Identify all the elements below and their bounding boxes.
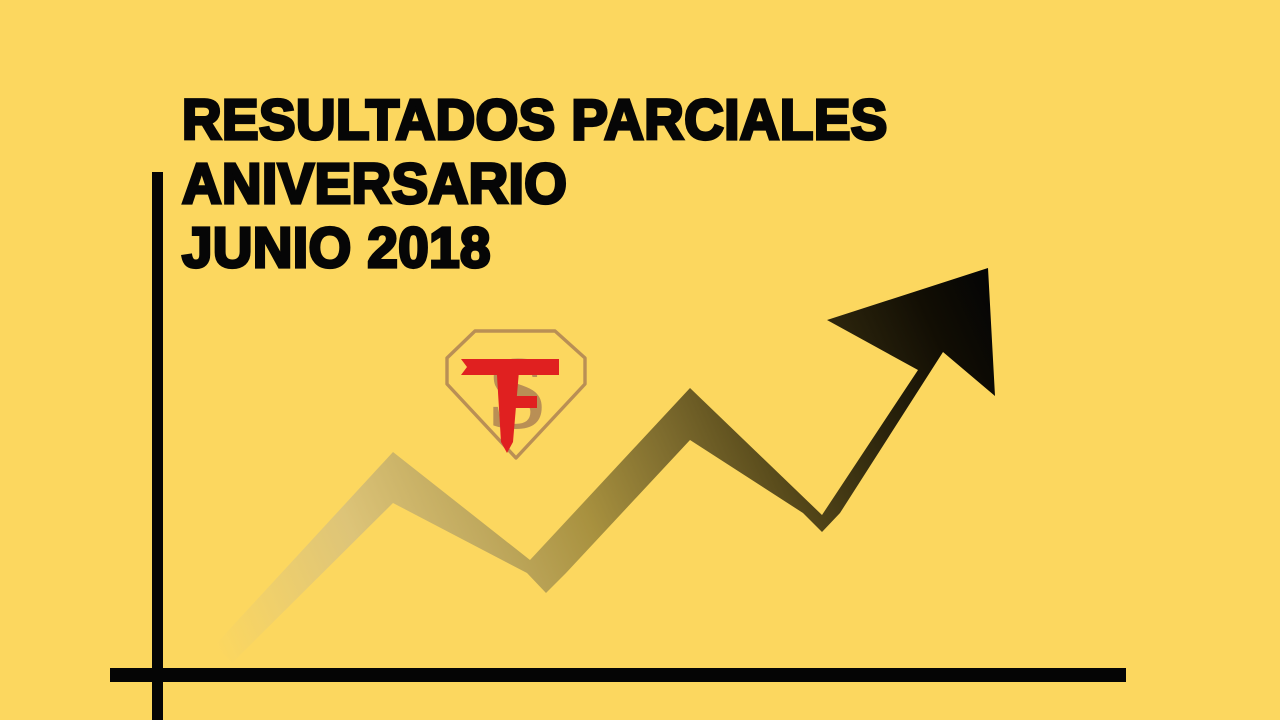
chart-axes: [0, 0, 1280, 720]
x-axis-line: [110, 668, 1126, 682]
y-axis-line: [152, 172, 163, 720]
slide-canvas: S RESULTADOS PARCIALES ANIVERSARIO JUNIO…: [0, 0, 1280, 720]
